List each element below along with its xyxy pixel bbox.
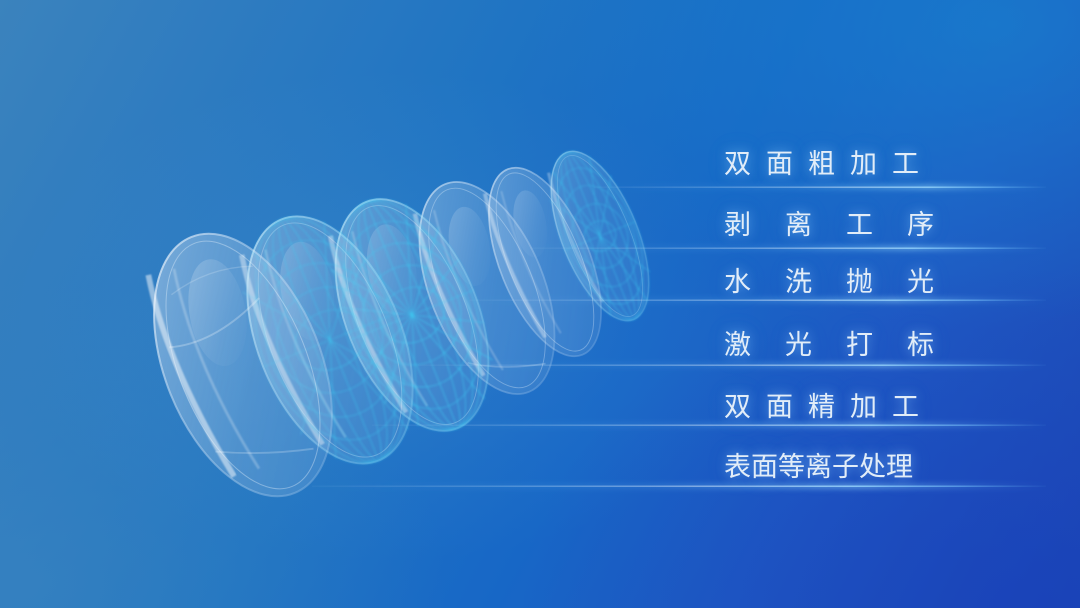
process-step-label-5[interactable]: 双面精加工: [724, 390, 964, 424]
process-step-label-6[interactable]: 表面等离子处理: [724, 450, 964, 484]
process-step-label-1[interactable]: 双面粗加工: [724, 147, 964, 181]
process-step-label-4[interactable]: 激光打标: [724, 328, 964, 362]
process-step-label-2[interactable]: 剥离工序: [724, 208, 964, 242]
process-step-labels: 双面粗加工 剥离工序 水洗抛光 激光打标 双面精加工 表面等离子处理: [0, 0, 1080, 608]
process-step-label-3[interactable]: 水洗抛光: [724, 265, 964, 299]
slide-canvas: 双面粗加工 剥离工序 水洗抛光 激光打标 双面精加工 表面等离子处理: [0, 0, 1080, 608]
